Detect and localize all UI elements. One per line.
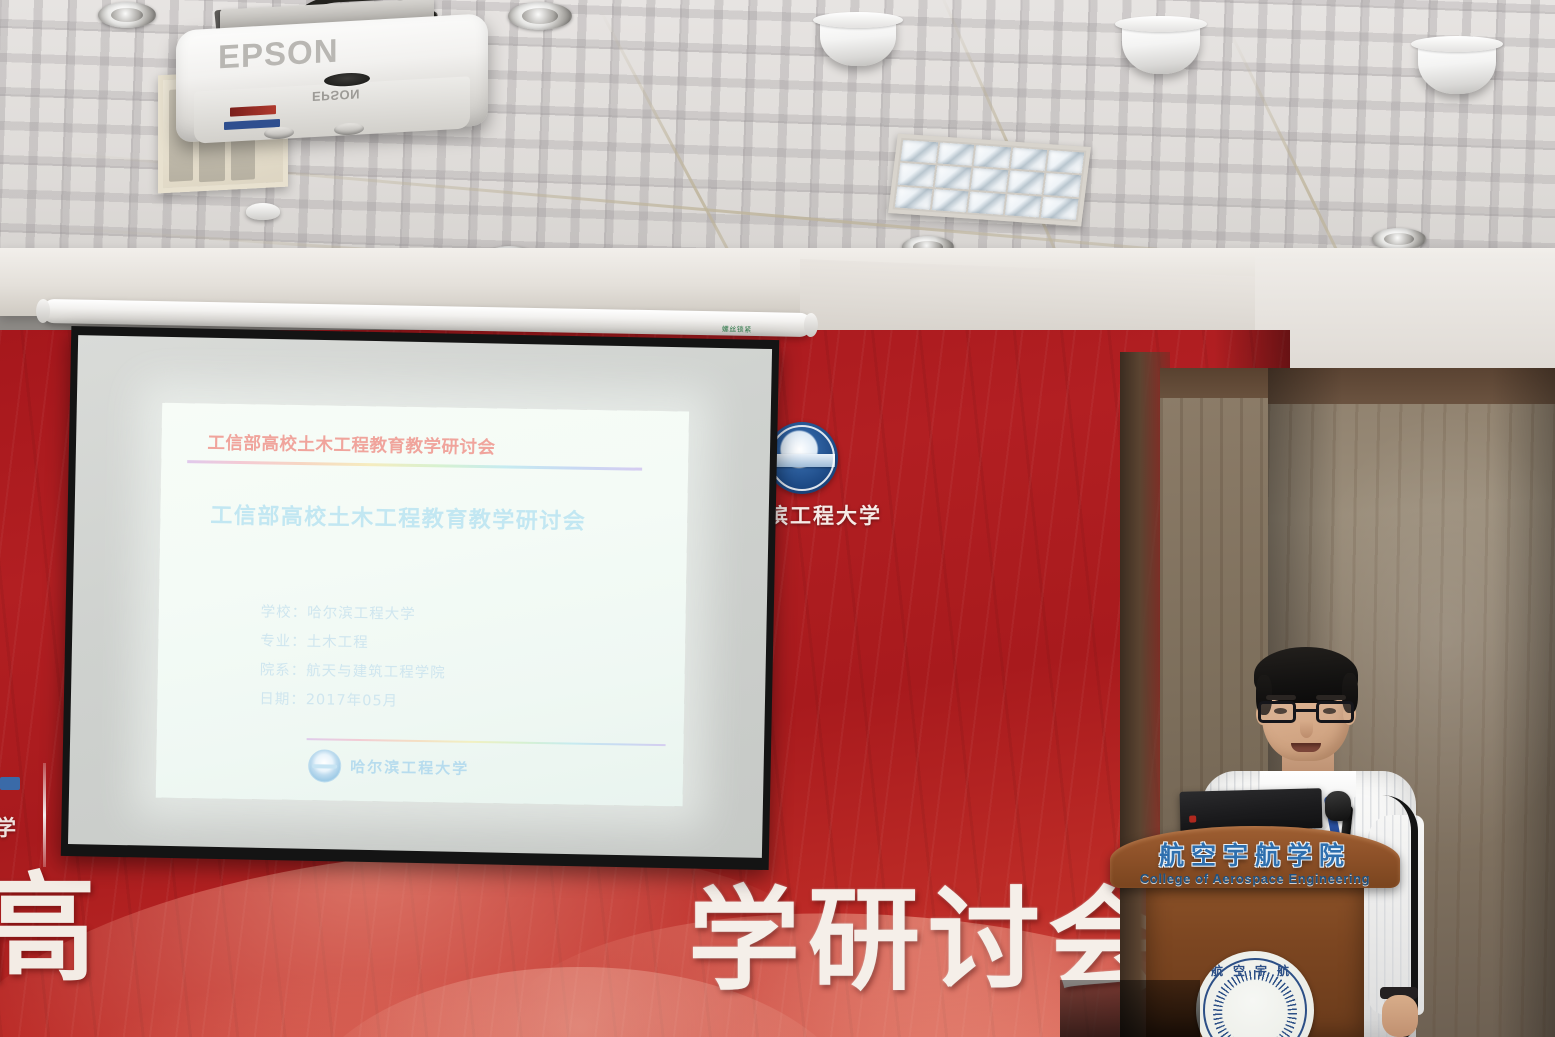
projector-foot	[334, 122, 364, 136]
banner-left-university-fragment: 大学	[0, 812, 18, 842]
podium-emblem-icon: 航空宇航	[1196, 951, 1314, 1037]
recessed-downlight	[98, 2, 156, 28]
banner-vertical-divider	[43, 763, 46, 867]
presenter-nose	[1300, 721, 1313, 738]
floor-shadow	[1060, 980, 1200, 1037]
slide-header-rule	[187, 460, 642, 470]
presenter-mouth	[1291, 743, 1321, 752]
projector-badge	[230, 105, 276, 117]
projection-screen: 工信部高校土木工程教育教学研讨会 工信部高校土木工程教育教学研讨会 学校：哈尔滨…	[61, 326, 779, 870]
roller-label: 螺丝锁紧	[722, 324, 752, 335]
podium-english-name: College of Aerospace Engineering	[1110, 871, 1400, 886]
ceiling-light-fixture	[888, 134, 1091, 227]
projector-brand-underside-label: EPSON	[312, 86, 360, 104]
recessed-downlight	[508, 2, 572, 30]
projector-lens	[324, 72, 370, 88]
smoke-detector	[246, 203, 280, 220]
presenter-eyebrow-left	[1266, 695, 1296, 700]
projection-screen-surface: 工信部高校土木工程教育教学研讨会 工信部高校土木工程教育教学研讨会 学校：哈尔滨…	[68, 335, 772, 858]
upper-right-wall	[1255, 255, 1555, 385]
projector-body: EPSON EPSON	[176, 13, 488, 142]
projector-underside: EPSON	[194, 76, 470, 143]
projected-slide: 工信部高校土木工程教育教学研讨会 工信部高校土木工程教育教学研讨会 学校：哈尔滨…	[156, 403, 689, 807]
slide-university-logo-icon	[308, 749, 342, 783]
podium-emblem-text: 航空宇航	[1196, 962, 1314, 979]
ceiling-projector: EPSON EPSON	[168, 8, 498, 168]
recessed-downlight	[1372, 228, 1426, 250]
slide-university-name: 哈尔滨工程大学	[350, 756, 469, 779]
slide-title-text: 工信部高校土木工程教育教学研讨会	[210, 497, 663, 537]
slide-metadata-block: 学校：哈尔滨工程大学 专业：土木工程 院系：航天与建筑工程学院 日期：2017年…	[259, 598, 662, 721]
projector-brand-label: EPSON	[218, 32, 339, 77]
slide-footer-rule	[307, 738, 666, 746]
conference-room-photo: EPSON EPSON 尔滨工程大学 学研讨会 大学	[0, 0, 1555, 1037]
podium-chinese-name: 航空宇航学院	[1110, 836, 1400, 872]
slide-meta-date: 日期：2017年05月	[259, 685, 660, 721]
presenter-eyebrow-right	[1316, 695, 1346, 700]
podium-top-panel: 航空宇航学院 College of Aerospace Engineering	[1110, 826, 1400, 888]
projector-foot	[264, 126, 294, 140]
microphone-icon	[1325, 791, 1351, 821]
banner-left-badge	[0, 777, 20, 790]
slide-header-text: 工信部高校土木工程教育教学研讨会	[207, 429, 664, 462]
eyeglasses-icon	[1258, 701, 1354, 723]
slide-footer: 哈尔滨工程大学	[306, 738, 666, 788]
banner-left-big-character: 高	[0, 870, 96, 988]
